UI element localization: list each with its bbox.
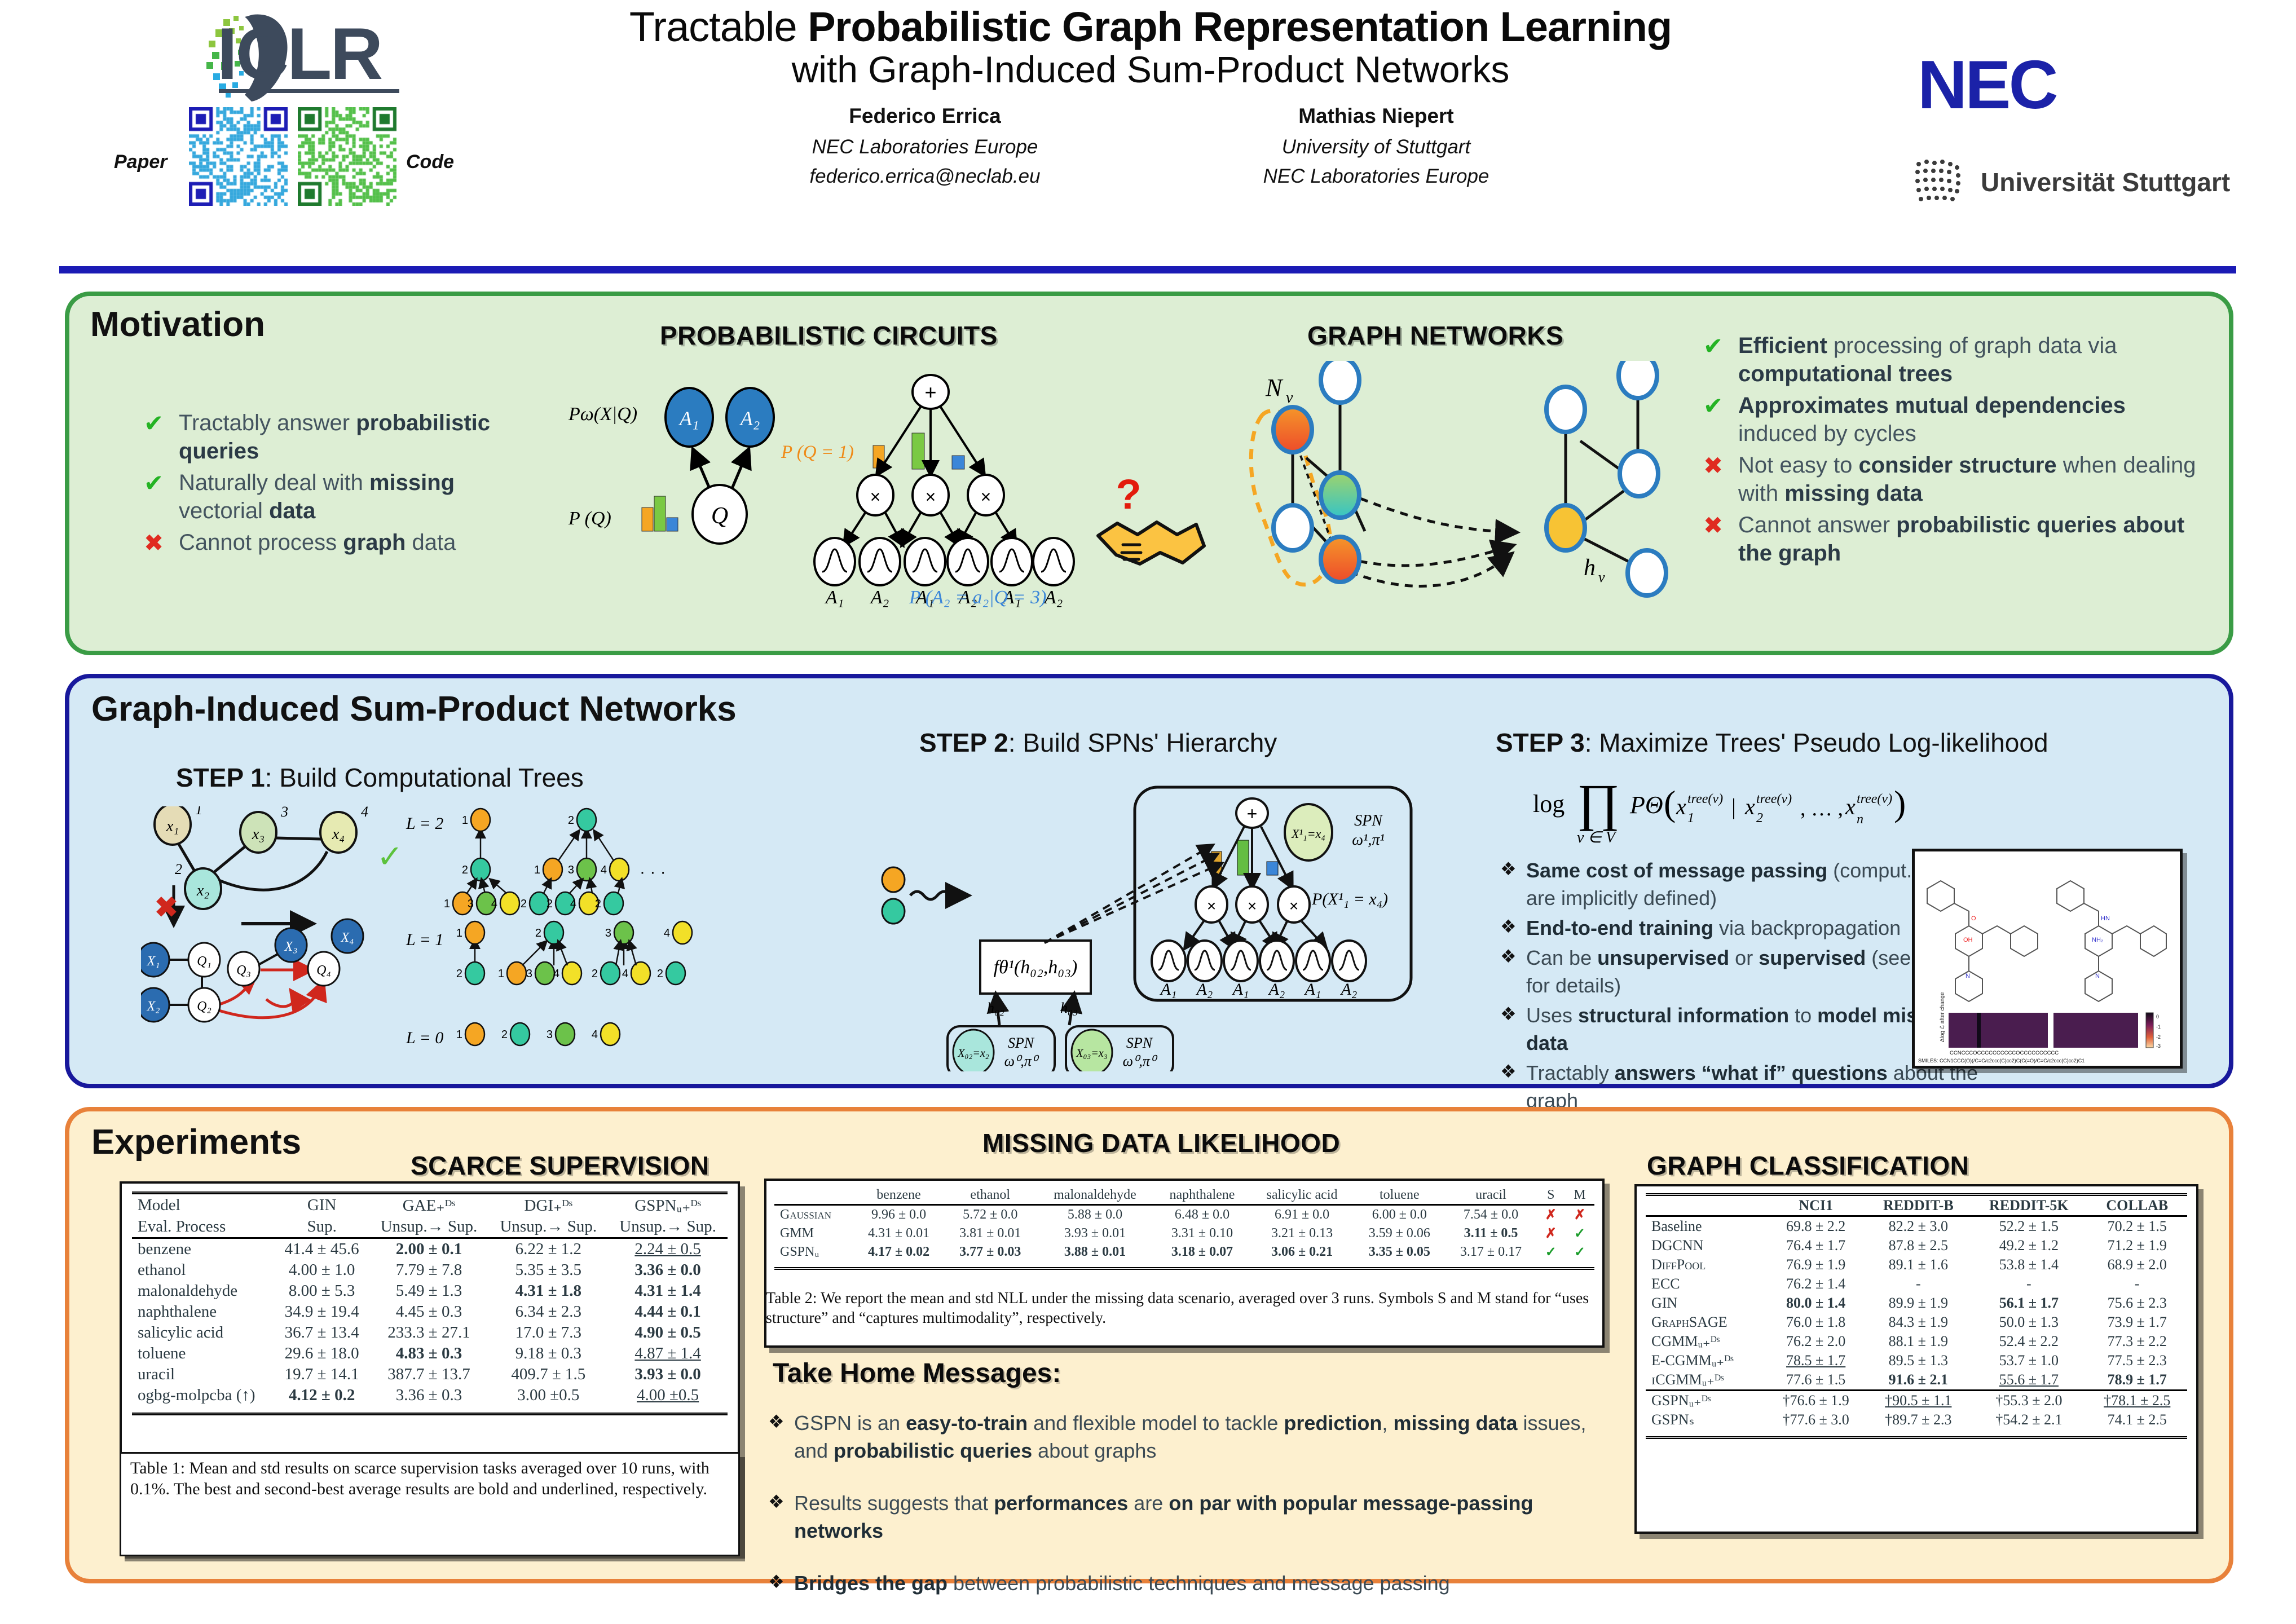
table-header-cell: benzene bbox=[853, 1186, 944, 1205]
table-cell: 76.2 ± 1.4 bbox=[1766, 1274, 1866, 1294]
svg-text:x₄: x₄ bbox=[332, 826, 345, 843]
table-header-cell: GAE₊ᴰˢ bbox=[369, 1193, 489, 1217]
table-cell: 8.00 ± 5.3 bbox=[275, 1281, 369, 1301]
table-cell: 3.11 ± 0.5 bbox=[1445, 1224, 1536, 1243]
svg-text:A₁: A₁ bbox=[1232, 980, 1249, 999]
table-cell: 4.17 ± 0.02 bbox=[853, 1243, 944, 1261]
iclr-wordmark: ICLR bbox=[217, 11, 381, 96]
svg-text:∏: ∏ bbox=[1577, 774, 1620, 831]
table-cell: 233.3 ± 27.1 bbox=[369, 1322, 489, 1343]
diamond-bullet-icon: ❖ bbox=[1500, 1002, 1526, 1026]
svg-text:P (Q): P (Q) bbox=[568, 508, 611, 529]
table-cell: 5.88 ± 0.0 bbox=[1036, 1205, 1154, 1225]
table-cell: 74.1 ± 2.5 bbox=[2087, 1410, 2187, 1429]
svg-text:×: × bbox=[926, 487, 936, 507]
probabilistic-circuits-diagram: Pω(X|Q) A₁ A₂ Q P (Q) P (Q = 1) + × bbox=[564, 361, 1088, 626]
table-cell: 78.5 ± 1.7 bbox=[1766, 1351, 1866, 1370]
table-cell: 409.7 ± 1.5 bbox=[488, 1364, 608, 1385]
graph-classification-table-box: NCI1REDDIT-BREDDIT-5KCOLLABBaseline69.8 … bbox=[1634, 1184, 2198, 1534]
svg-text:×: × bbox=[870, 487, 881, 507]
graph-networks-diagram: N v bbox=[1229, 361, 1692, 626]
table2-caption: Table 2: We report the mean and std NLL … bbox=[766, 1288, 1601, 1328]
table-cell: 3.36 ± 0.0 bbox=[608, 1260, 728, 1281]
table-cell: 82.2 ± 3.0 bbox=[1866, 1216, 1971, 1237]
svg-text:2: 2 bbox=[175, 861, 182, 877]
table-cell: 7.79 ± 7.8 bbox=[369, 1260, 489, 1281]
svg-text:SPN: SPN bbox=[1126, 1035, 1153, 1051]
svg-text:4: 4 bbox=[570, 898, 576, 910]
table-cell: 3.35 ± 0.05 bbox=[1354, 1243, 1445, 1261]
list-item: ✔Approximates mutual dependencies induce… bbox=[1703, 391, 2211, 448]
svg-text:3: 3 bbox=[280, 806, 288, 820]
row-label: GMM bbox=[774, 1224, 853, 1243]
author-affiliation: NEC Laboratories Europe bbox=[750, 136, 1100, 158]
table-header-cell: Unsup.→ Sup. bbox=[488, 1216, 608, 1238]
check-icon: ✔ bbox=[1703, 332, 1738, 360]
table-cell: †54.2 ± 2.1 bbox=[1971, 1410, 2087, 1429]
stuttgart-logo: Universität Stuttgart bbox=[1912, 155, 2230, 209]
svg-text:3: 3 bbox=[526, 968, 532, 980]
row-label: ɪCGMMᵤ₊ᴰˢ bbox=[1646, 1370, 1766, 1391]
table-cell: 6.34 ± 2.3 bbox=[488, 1301, 608, 1322]
bullet-text: Tractably answer probabilistic queries bbox=[179, 409, 527, 465]
author-email: NEC Laboratories Europe bbox=[1201, 165, 1551, 188]
row-label: Baseline bbox=[1646, 1216, 1766, 1237]
table-cell: - bbox=[1971, 1274, 2087, 1294]
svg-text:2: 2 bbox=[1756, 811, 1763, 826]
table-cell: 77.5 ± 2.3 bbox=[2087, 1351, 2187, 1370]
table-header-cell: Model bbox=[132, 1193, 275, 1217]
row-label: DGCNN bbox=[1646, 1236, 1766, 1255]
table-row: CGMMᵤ₊ᴰˢ76.2 ± 2.088.1 ± 1.952.4 ± 2.277… bbox=[1646, 1332, 2187, 1351]
table-cell: 4.31 ± 1.8 bbox=[488, 1281, 608, 1301]
motivation-title: Motivation bbox=[90, 304, 265, 345]
row-label: Gaussian bbox=[774, 1205, 853, 1225]
table-row: GraphSAGE76.0 ± 1.884.3 ± 1.950.0 ± 1.37… bbox=[1646, 1313, 2187, 1332]
svg-text:×: × bbox=[1207, 897, 1216, 915]
title-block: Tractable Probabilistic Graph Representa… bbox=[508, 6, 1793, 188]
missing-data-heading: MISSING DATA LIKELIHOOD bbox=[982, 1128, 1340, 1158]
table-header-cell: uracil bbox=[1445, 1186, 1536, 1205]
svg-text:1: 1 bbox=[1687, 811, 1694, 826]
table-row: Gaussian9.96 ± 0.05.72 ± 0.05.88 ± 0.06.… bbox=[774, 1205, 1594, 1225]
bullet-text: Approximates mutual dependencies induced… bbox=[1738, 391, 2211, 448]
table-cell: 3.21 ± 0.13 bbox=[1250, 1224, 1354, 1243]
list-item: ❖Uses structural information to model mi… bbox=[1500, 1002, 1980, 1057]
svg-text:x₁: x₁ bbox=[166, 818, 179, 835]
graph-classification-heading: GRAPH CLASSIFICATION bbox=[1647, 1150, 1969, 1181]
table-cell: 2.00 ± 0.1 bbox=[369, 1238, 489, 1260]
svg-text:1: 1 bbox=[456, 927, 462, 939]
svg-text:ω⁰,π⁰: ω⁰,π⁰ bbox=[1123, 1053, 1158, 1069]
svg-text:tree(v): tree(v) bbox=[1687, 792, 1723, 806]
bullet-text: Bridges the gap between probabilistic te… bbox=[794, 1570, 1450, 1597]
svg-text:X₂: X₂ bbox=[146, 999, 160, 1014]
take-home-heading: Take Home Messages: bbox=[773, 1358, 1061, 1389]
svg-text:1: 1 bbox=[195, 806, 202, 818]
scarce-supervision-table: ModelGINGAE₊ᴰˢDGI₊ᴰˢGSPNᵤ₊ᴰˢEval. Proces… bbox=[132, 1191, 728, 1415]
handshake-icon: ? bbox=[1091, 474, 1221, 586]
svg-text:×: × bbox=[1289, 897, 1298, 915]
nec-wordmark: NEC bbox=[1918, 45, 2056, 124]
table-cell: 77.3 ± 2.2 bbox=[2087, 1332, 2187, 1351]
table-cell: 9.96 ± 0.0 bbox=[853, 1205, 944, 1225]
header-divider bbox=[59, 266, 2236, 273]
svg-text:PΘ: PΘ bbox=[1629, 791, 1663, 819]
diamond-bullet-icon: ❖ bbox=[1500, 945, 1526, 969]
svg-text:3: 3 bbox=[568, 864, 574, 876]
cbar-tick: -1 bbox=[2156, 1024, 2161, 1030]
svg-text:?: ? bbox=[1116, 474, 1141, 518]
qr-row: Paper Code bbox=[118, 107, 479, 242]
author-entry: Federico Errica NEC Laboratories Europe … bbox=[750, 104, 1100, 188]
table-header-cell: M bbox=[1565, 1186, 1594, 1205]
table-header-cell: malonaldehyde bbox=[1036, 1186, 1154, 1205]
table-row: naphthalene34.9 ± 19.44.45 ± 0.36.34 ± 2… bbox=[132, 1301, 728, 1322]
table-header-cell bbox=[774, 1186, 853, 1205]
svg-text:2: 2 bbox=[657, 968, 663, 980]
svg-text:n: n bbox=[1857, 812, 1863, 827]
list-item: ✖Not easy to consider structure when dea… bbox=[1703, 451, 2211, 507]
uses-structure-mark: ✓ bbox=[1537, 1243, 1565, 1261]
table-cell: †89.7 ± 2.3 bbox=[1866, 1410, 1971, 1429]
table-cell: 87.8 ± 2.5 bbox=[1866, 1236, 1971, 1255]
table-row: GSPNₛ†77.6 ± 3.0†89.7 ± 2.3†54.2 ± 2.174… bbox=[1646, 1410, 2187, 1429]
author-name: Federico Errica bbox=[750, 104, 1100, 128]
list-item: ❖GSPN is an easy-to-train and flexible m… bbox=[768, 1410, 1597, 1465]
table-header-cell: ethanol bbox=[945, 1186, 1036, 1205]
svg-text:2: 2 bbox=[456, 968, 462, 980]
table-cell: †77.6 ± 3.0 bbox=[1766, 1410, 1866, 1429]
scarce-supervision-heading: SCARCE SUPERVISION bbox=[411, 1150, 709, 1181]
table-row: GSPNᵤ₊ᴰˢ†76.6 ± 1.9†90.5 ± 1.1†55.3 ± 2.… bbox=[1646, 1391, 2187, 1411]
svg-text:✖: ✖ bbox=[155, 892, 178, 923]
svg-text:1: 1 bbox=[456, 1029, 462, 1041]
svg-text:): ) bbox=[1894, 783, 1906, 823]
bullet-text: GSPN is an easy-to-train and flexible mo… bbox=[794, 1410, 1597, 1465]
svg-text:X₁: X₁ bbox=[146, 954, 160, 969]
table-row: benzene41.4 ± 45.62.00 ± 0.16.22 ± 1.22.… bbox=[132, 1238, 728, 1260]
svg-text:Q₂: Q₂ bbox=[197, 999, 211, 1014]
svg-text:4: 4 bbox=[622, 968, 628, 980]
table-cell: 50.0 ± 1.3 bbox=[1971, 1313, 2087, 1332]
table-cell: 89.5 ± 1.3 bbox=[1866, 1351, 1971, 1370]
list-item: ✔Tractably answer probabilistic queries bbox=[144, 409, 527, 465]
missing-data-table: benzeneethanolmalonaldehydenaphthalenesa… bbox=[774, 1186, 1594, 1270]
table-cell: 6.22 ± 1.2 bbox=[488, 1238, 608, 1260]
svg-text:OH: OH bbox=[1963, 937, 1973, 943]
table-row: E-CGMMᵤ₊ᴰˢ78.5 ± 1.789.5 ± 1.353.7 ± 1.0… bbox=[1646, 1351, 2187, 1370]
bullet-text: Naturally deal with missing vectorial da… bbox=[179, 469, 527, 525]
author-list: Federico Errica NEC Laboratories Europe … bbox=[508, 104, 1793, 188]
table-cell: 80.0 ± 1.4 bbox=[1766, 1294, 1866, 1313]
row-label: malonaldehyde bbox=[132, 1281, 275, 1301]
fig-xticks: CCNCCCOCCCCCCCCCCOCCCCCCCCCC bbox=[1950, 1050, 2059, 1056]
row-label: GSPNᵤ₊ᴰˢ bbox=[1646, 1391, 1766, 1411]
diamond-bullet-icon: ❖ bbox=[768, 1570, 794, 1594]
svg-text:3: 3 bbox=[605, 927, 611, 939]
svg-text:A₂: A₂ bbox=[739, 407, 760, 430]
svg-text:log: log bbox=[1533, 790, 1565, 818]
table-cell: 69.8 ± 2.2 bbox=[1766, 1216, 1866, 1237]
table-row: ɪCGMMᵤ₊ᴰˢ77.6 ± 1.591.6 ± 2.155.6 ± 1.77… bbox=[1646, 1370, 2187, 1391]
row-label: CGMMᵤ₊ᴰˢ bbox=[1646, 1332, 1766, 1351]
svg-text:+: + bbox=[1247, 804, 1258, 824]
cbar-tick: 0 bbox=[2156, 1014, 2159, 1020]
table-cell: 3.93 ± 0.0 bbox=[608, 1364, 728, 1385]
svg-text:4: 4 bbox=[361, 806, 368, 820]
table-row: salicylic acid36.7 ± 13.4233.3 ± 27.117.… bbox=[132, 1322, 728, 1343]
svg-text:h: h bbox=[1584, 555, 1596, 581]
table-row: ogbg-molpcba (↑)4.12 ± 0.23.36 ± 0.33.00… bbox=[132, 1385, 728, 1406]
svg-text:Pω(X|Q): Pω(X|Q) bbox=[568, 404, 637, 425]
table-cell: 4.87 ± 1.4 bbox=[608, 1343, 728, 1364]
bullet-text: Cannot process graph data bbox=[179, 528, 456, 557]
table1-caption: Table 1: Mean and std results on scarce … bbox=[130, 1458, 729, 1499]
list-item: ❖Tractably answers “what if” questions a… bbox=[1500, 1060, 1980, 1115]
table-cell: 75.6 ± 2.3 bbox=[2087, 1294, 2187, 1313]
table-cell: 387.7 ± 13.7 bbox=[369, 1364, 489, 1385]
list-item: ❖End-to-end training via backpropagation bbox=[1500, 915, 1980, 942]
uses-structure-mark: ✗ bbox=[1537, 1205, 1565, 1225]
iclr-underline bbox=[219, 89, 399, 93]
svg-text:fθ¹(h₀₂,h₀₃): fθ¹(h₀₂,h₀₃) bbox=[994, 957, 1078, 978]
table-cell: 68.9 ± 2.0 bbox=[2087, 1255, 2187, 1274]
svg-text:×: × bbox=[981, 487, 991, 507]
list-item: ✖Cannot process graph data bbox=[144, 528, 527, 557]
svg-text:2: 2 bbox=[501, 1029, 508, 1041]
poster-title-line1: Tractable Probabilistic Graph Representa… bbox=[508, 6, 1793, 49]
diamond-bullet-icon: ❖ bbox=[1500, 915, 1526, 939]
poster-root: ICLR Paper Code Tractable Probabilistic … bbox=[0, 0, 2296, 1624]
svg-text:tree(v): tree(v) bbox=[1756, 792, 1792, 806]
author-entry: Mathias Niepert University of Stuttgart … bbox=[1201, 104, 1551, 188]
table-cell: 91.6 ± 2.1 bbox=[1866, 1370, 1971, 1391]
table-cell: 53.8 ± 1.4 bbox=[1971, 1255, 2087, 1274]
row-label: ethanol bbox=[132, 1260, 275, 1281]
check-icon: ✔ bbox=[144, 469, 179, 497]
diamond-bullet-icon: ❖ bbox=[1500, 857, 1526, 881]
svg-text:h₀₂: h₀₂ bbox=[987, 1000, 1004, 1016]
table-header-cell: REDDIT-B bbox=[1866, 1195, 1971, 1216]
table-header-cell: salicylic acid bbox=[1250, 1186, 1354, 1205]
svg-text:×: × bbox=[1248, 897, 1257, 915]
table-row: uracil19.7 ± 14.1387.7 ± 13.7409.7 ± 1.5… bbox=[132, 1364, 728, 1385]
table-cell: 19.7 ± 14.1 bbox=[275, 1364, 369, 1385]
probabilistic-circuits-heading: PROBABILISTIC CIRCUITS bbox=[660, 320, 998, 351]
svg-text:4: 4 bbox=[601, 864, 607, 876]
table-cell: 2.24 ± 0.5 bbox=[608, 1238, 728, 1260]
table-cell: 77.6 ± 1.5 bbox=[1766, 1370, 1866, 1391]
svg-text:Q₄: Q₄ bbox=[316, 963, 331, 978]
table-cell: 7.54 ± 0.0 bbox=[1445, 1205, 1536, 1225]
table-cell: 9.18 ± 0.3 bbox=[488, 1343, 608, 1364]
table-cell: 3.36 ± 0.3 bbox=[369, 1385, 489, 1406]
svg-text:A₁: A₁ bbox=[678, 407, 699, 430]
multimodality-mark: ✓ bbox=[1565, 1243, 1594, 1261]
svg-text:· · ·: · · · bbox=[640, 863, 666, 881]
table-row: GIN80.0 ± 1.489.9 ± 1.956.1 ± 1.775.6 ± … bbox=[1646, 1294, 2187, 1313]
qr-code[interactable] bbox=[298, 107, 396, 206]
svg-text:2: 2 bbox=[592, 968, 598, 980]
table-cell: 4.31 ± 0.01 bbox=[853, 1224, 944, 1243]
svg-text:3: 3 bbox=[468, 898, 474, 910]
bullet-text: End-to-end training via backpropagation bbox=[1526, 915, 1901, 942]
svg-text:Q₁: Q₁ bbox=[197, 954, 211, 969]
list-item: ✔Efficient processing of graph data via … bbox=[1703, 332, 2211, 388]
table-cell: 4.00 ± 1.0 bbox=[275, 1260, 369, 1281]
svg-text:x: x bbox=[1744, 794, 1755, 819]
table-cell: 36.7 ± 13.4 bbox=[275, 1322, 369, 1343]
motivation-left-bullets: ✔Tractably answer probabilistic queries … bbox=[144, 409, 527, 561]
motivation-right-bullets: ✔Efficient processing of graph data via … bbox=[1703, 332, 2211, 571]
table-row: toluene29.6 ± 18.04.83 ± 0.39.18 ± 0.34.… bbox=[132, 1343, 728, 1364]
list-item: ❖Can be unsupervised or supervised (see … bbox=[1500, 945, 1980, 1000]
svg-text:v: v bbox=[1598, 569, 1605, 585]
table-cell: 89.9 ± 1.9 bbox=[1866, 1294, 1971, 1313]
qr-code-label: Code bbox=[406, 151, 454, 173]
uses-structure-mark: ✗ bbox=[1537, 1224, 1565, 1243]
table-cell: 88.1 ± 1.9 bbox=[1866, 1332, 1971, 1351]
svg-text:A₁: A₁ bbox=[1304, 980, 1321, 999]
table-cell: 3.77 ± 0.03 bbox=[945, 1243, 1036, 1261]
table-header-cell: Unsup.→ Sup. bbox=[369, 1216, 489, 1238]
table-cell: 4.45 ± 0.3 bbox=[369, 1301, 489, 1322]
table-row: GSPNᵤ4.17 ± 0.023.77 ± 0.033.88 ± 0.013.… bbox=[774, 1243, 1594, 1261]
svg-text:A₁: A₁ bbox=[1160, 980, 1177, 999]
table-cell: †90.5 ± 1.1 bbox=[1866, 1391, 1971, 1411]
svg-text:v: v bbox=[1286, 389, 1293, 407]
bullet-text: Results suggests that performances are o… bbox=[794, 1490, 1597, 1545]
row-label: DiffPool bbox=[1646, 1255, 1766, 1274]
row-label: uracil bbox=[132, 1364, 275, 1385]
svg-text:, … ,: , … , bbox=[1800, 797, 1843, 820]
table-header-cell: GIN bbox=[275, 1193, 369, 1217]
table-cell: 4.00 ±0.5 bbox=[608, 1385, 728, 1406]
table-cell: 76.4 ± 1.7 bbox=[1766, 1236, 1866, 1255]
check-icon: ✔ bbox=[144, 409, 179, 438]
svg-text:(: ( bbox=[1664, 783, 1676, 823]
table-cell: 3.88 ± 0.01 bbox=[1036, 1243, 1154, 1261]
svg-text:|: | bbox=[1731, 794, 1736, 819]
table-cell: 78.9 ± 1.7 bbox=[2087, 1370, 2187, 1391]
svg-text:A₁: A₁ bbox=[825, 587, 844, 608]
table-cell: 73.9 ± 1.7 bbox=[2087, 1313, 2187, 1332]
table-row: DiffPool76.9 ± 1.989.1 ± 1.653.8 ± 1.468… bbox=[1646, 1255, 2187, 1274]
iclr-logo-block: ICLR Paper Code bbox=[118, 6, 479, 248]
svg-text:X₀₂=x₂: X₀₂=x₂ bbox=[957, 1047, 989, 1060]
diamond-bullet-icon: ❖ bbox=[768, 1410, 794, 1434]
molecule-heatmap-figure: O OH HN NH₂ N N 0 -1 -2 -3 Δlog ℒ after … bbox=[1912, 849, 2183, 1069]
cross-icon: ✖ bbox=[1703, 451, 1738, 480]
table-header-cell: GSPNᵤ₊ᴰˢ bbox=[608, 1193, 728, 1217]
row-label: E-CGMMᵤ₊ᴰˢ bbox=[1646, 1351, 1766, 1370]
svg-text:P (Q = 1): P (Q = 1) bbox=[781, 442, 854, 462]
table-cell: 4.12 ± 0.2 bbox=[275, 1385, 369, 1406]
table-cell: 76.9 ± 1.9 bbox=[1766, 1255, 1866, 1274]
author-email: federico.errica@neclab.eu bbox=[750, 165, 1100, 188]
table-cell: - bbox=[1866, 1274, 1971, 1294]
svg-text:x₃: x₃ bbox=[252, 826, 265, 843]
row-label: GSPNᵤ bbox=[774, 1243, 853, 1261]
svg-text:1: 1 bbox=[498, 968, 504, 980]
table-cell: 76.2 ± 2.0 bbox=[1766, 1332, 1866, 1351]
table-cell: 55.6 ± 1.7 bbox=[1971, 1370, 2087, 1391]
svg-text:X₄: X₄ bbox=[340, 930, 354, 945]
svg-text:ω¹,π¹: ω¹,π¹ bbox=[1352, 831, 1385, 849]
table-cell: 52.2 ± 1.5 bbox=[1971, 1216, 2087, 1237]
diamond-bullet-icon: ❖ bbox=[1500, 1060, 1526, 1084]
table-row: DGCNN76.4 ± 1.787.8 ± 2.549.2 ± 1.271.2 … bbox=[1646, 1236, 2187, 1255]
svg-text:3: 3 bbox=[547, 1029, 553, 1041]
row-label: ECC bbox=[1646, 1274, 1766, 1294]
svg-text:P (A₂ = a₂|Q = 3): P (A₂ = a₂|Q = 3) bbox=[909, 587, 1047, 608]
svg-text:NH₂: NH₂ bbox=[2092, 937, 2103, 943]
table-cell: 3.81 ± 0.01 bbox=[945, 1224, 1036, 1243]
step2-heading: STEP 2: Build SPNs' Hierarchy bbox=[919, 727, 1277, 758]
cbar-tick: -3 bbox=[2156, 1043, 2161, 1049]
svg-text:A₂: A₂ bbox=[870, 587, 889, 608]
nec-logo-block: NEC bbox=[1901, 11, 2262, 226]
table-cell: 4.44 ± 0.1 bbox=[608, 1301, 728, 1322]
table-row: Baseline69.8 ± 2.282.2 ± 3.052.2 ± 1.570… bbox=[1646, 1216, 2187, 1237]
table-cell: 3.18 ± 0.07 bbox=[1154, 1243, 1250, 1261]
table-header-cell: NCI1 bbox=[1766, 1195, 1866, 1216]
qr-paper[interactable] bbox=[189, 107, 288, 206]
svg-text:x: x bbox=[1676, 794, 1686, 819]
svg-text:x₂: x₂ bbox=[196, 882, 209, 899]
table-row: malonaldehyde8.00 ± 5.35.49 ± 1.34.31 ± … bbox=[132, 1281, 728, 1301]
graph-classification-table: NCI1REDDIT-BREDDIT-5KCOLLABBaseline69.8 … bbox=[1646, 1193, 2187, 1439]
svg-text:4: 4 bbox=[664, 927, 670, 939]
table-header-cell: Sup. bbox=[275, 1216, 369, 1238]
svg-text:x: x bbox=[1845, 794, 1856, 819]
svg-text:A₂: A₂ bbox=[1268, 980, 1285, 999]
svg-text:SPN: SPN bbox=[1008, 1035, 1035, 1051]
table-cell: 56.1 ± 1.7 bbox=[1971, 1294, 2087, 1313]
svg-text:N: N bbox=[1966, 973, 1970, 979]
svg-text:A₂: A₂ bbox=[1340, 980, 1358, 999]
list-item: ❖Same cost of message passing (comput. t… bbox=[1500, 857, 1980, 912]
table-cell: †76.6 ± 1.9 bbox=[1766, 1391, 1866, 1411]
row-label: benzene bbox=[132, 1238, 275, 1260]
diamond-bullet-icon: ❖ bbox=[768, 1490, 794, 1514]
table-cell: 5.49 ± 1.3 bbox=[369, 1281, 489, 1301]
svg-text:2: 2 bbox=[521, 898, 527, 910]
table-cell: 17.0 ± 7.3 bbox=[488, 1322, 608, 1343]
qr-paper-label: Paper bbox=[114, 151, 168, 173]
svg-text:2: 2 bbox=[535, 927, 541, 939]
table-cell: †78.1 ± 2.5 bbox=[2087, 1391, 2187, 1411]
table-cell: 4.83 ± 0.3 bbox=[369, 1343, 489, 1364]
step3-formula: log ∏ v ∈ V PΘ ( x tree(v) 1 | x tree(v)… bbox=[1523, 771, 2154, 850]
table-cell: 70.2 ± 1.5 bbox=[2087, 1216, 2187, 1237]
multimodality-mark: ✓ bbox=[1565, 1224, 1594, 1243]
table-cell: 3.31 ± 0.10 bbox=[1154, 1224, 1250, 1243]
check-icon: ✔ bbox=[1703, 391, 1738, 420]
fig-smiles: SMILES: CCN1CCC(O)(/C=C/c2ccc(C)cc2)C(C(… bbox=[1918, 1058, 2085, 1063]
table-header-cell: toluene bbox=[1354, 1186, 1445, 1205]
cbar-tick: -2 bbox=[2156, 1034, 2161, 1040]
table-cell: 34.9 ± 19.4 bbox=[275, 1301, 369, 1322]
table-cell: 3.59 ± 0.06 bbox=[1354, 1224, 1445, 1243]
stuttgart-name: Universität Stuttgart bbox=[1981, 167, 2230, 197]
author-name: Mathias Niepert bbox=[1201, 104, 1551, 128]
level-label-2: L = 2 bbox=[406, 814, 443, 833]
table-header-cell bbox=[1646, 1195, 1766, 1216]
table-header-cell: naphthalene bbox=[1154, 1186, 1250, 1205]
multimodality-mark: ✗ bbox=[1565, 1205, 1594, 1225]
